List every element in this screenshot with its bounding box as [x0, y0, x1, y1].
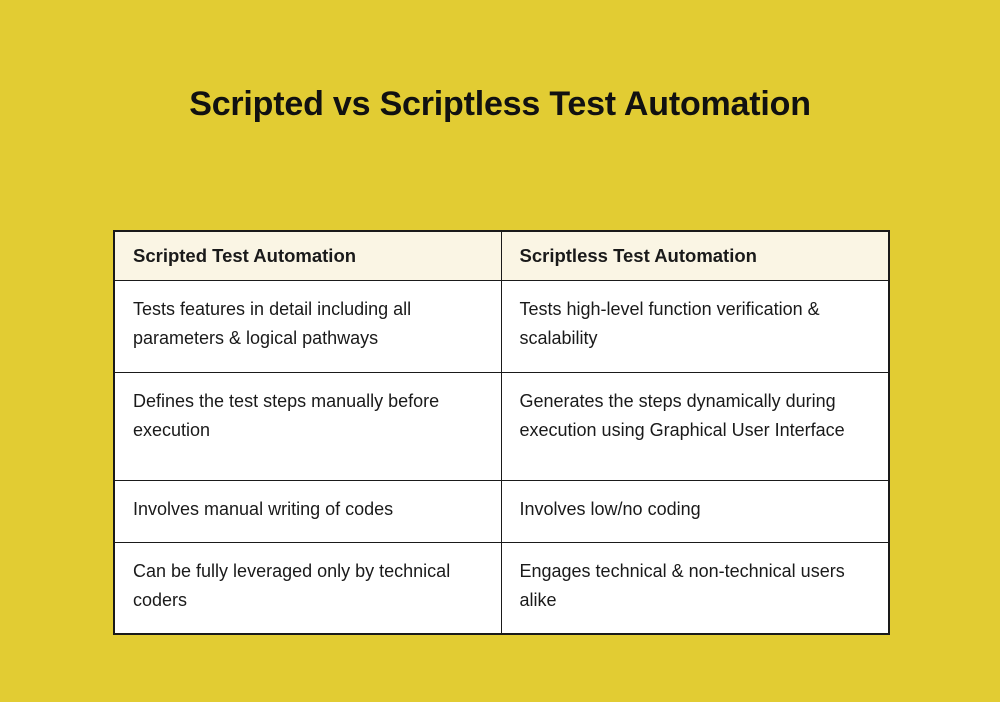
- cell-text: Involves manual writing of codes: [133, 495, 483, 524]
- cell-scriptless: Generates the steps dynamically during e…: [501, 373, 889, 481]
- cell-scripted: Involves manual writing of codes: [114, 481, 501, 543]
- cell-scriptless: Tests high-level function verification &…: [501, 281, 889, 373]
- column-header-scripted: Scripted Test Automation: [114, 231, 501, 281]
- column-header-scriptless: Scriptless Test Automation: [501, 231, 889, 281]
- cell-text: Engages technical & non-technical users …: [520, 557, 871, 615]
- cell-text: Defines the test steps manually before e…: [133, 387, 483, 445]
- page-title: Scripted vs Scriptless Test Automation: [0, 82, 1000, 126]
- table-row: Can be fully leveraged only by technical…: [114, 543, 889, 635]
- cell-scripted: Can be fully leveraged only by technical…: [114, 543, 501, 635]
- cell-scriptless: Involves low/no coding: [501, 481, 889, 543]
- table-row: Tests features in detail including all p…: [114, 281, 889, 373]
- table-header-row: Scripted Test Automation Scriptless Test…: [114, 231, 889, 281]
- cell-text: Generates the steps dynamically during e…: [520, 387, 871, 445]
- cell-scripted: Defines the test steps manually before e…: [114, 373, 501, 481]
- comparison-table: Scripted Test Automation Scriptless Test…: [113, 230, 890, 635]
- table-header: Scripted Test Automation Scriptless Test…: [114, 231, 889, 281]
- table-row: Defines the test steps manually before e…: [114, 373, 889, 481]
- cell-text: Involves low/no coding: [520, 495, 871, 524]
- table-body: Tests features in detail including all p…: [114, 281, 889, 635]
- cell-text: Tests high-level function verification &…: [520, 295, 871, 353]
- cell-scriptless: Engages technical & non-technical users …: [501, 543, 889, 635]
- table-row: Involves manual writing of codes Involve…: [114, 481, 889, 543]
- cell-text: Can be fully leveraged only by technical…: [133, 557, 483, 615]
- cell-scripted: Tests features in detail including all p…: [114, 281, 501, 373]
- cell-text: Tests features in detail including all p…: [133, 295, 483, 353]
